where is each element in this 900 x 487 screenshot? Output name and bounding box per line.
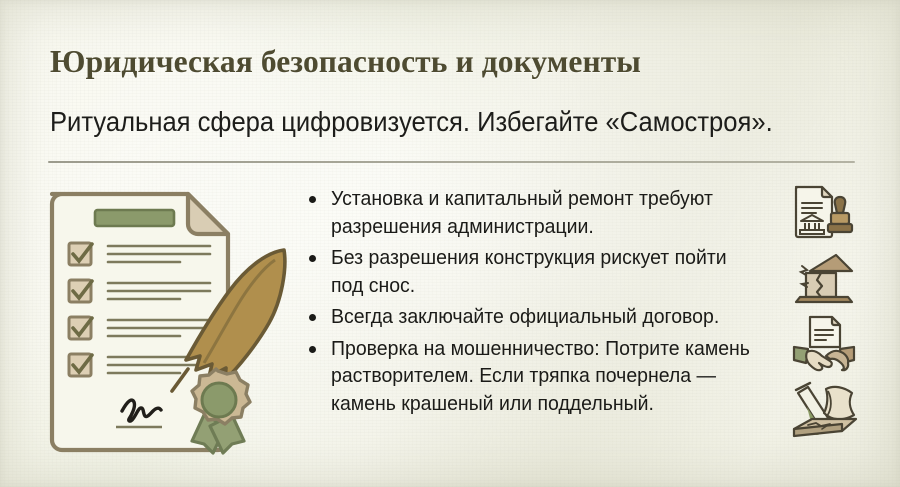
bullet-dot-icon xyxy=(309,314,316,321)
list-item-text: Без разрешения конструкция рискует пойти… xyxy=(331,245,761,300)
page-title: Юридическая безопасность и документы xyxy=(50,43,840,81)
side-icon-column xyxy=(788,183,860,447)
bullet-dot-icon xyxy=(309,255,316,262)
document-title-block xyxy=(95,210,174,226)
list-item: Проверка на мошенничество: Потрите камен… xyxy=(305,336,781,419)
bullet-dot-icon xyxy=(309,346,316,353)
bullet-dot-icon xyxy=(309,196,316,203)
list-item: Без разрешения конструкция рискует пойти… xyxy=(305,245,781,300)
list-item-text: Всегда заключайте официальный договор. xyxy=(331,304,761,332)
bullet-list: Установка и капитальный ремонт требуют р… xyxy=(305,186,781,422)
stone-slab-glyph xyxy=(794,419,856,436)
header-divider xyxy=(48,161,855,163)
contract-handshake-icon xyxy=(788,315,860,373)
solvent-test-tube-rag-stone-icon xyxy=(788,381,860,447)
list-item-text: Установка и капитальный ремонт требуют р… xyxy=(331,186,761,241)
list-item: Всегда заключайте официальный договор. xyxy=(305,304,781,332)
demolished-house-icon xyxy=(788,249,860,307)
document-checklist-illustration xyxy=(38,172,300,467)
list-item-text: Проверка на мошенничество: Потрите камен… xyxy=(331,336,761,419)
permit-document-with-government-stamp-icon xyxy=(788,183,860,241)
wax-seal-ribbon xyxy=(192,369,250,453)
page-subtitle: Ритуальная сфера цифровизуется. Избегайт… xyxy=(50,105,803,139)
list-item: Установка и капитальный ремонт требуют р… xyxy=(305,186,781,241)
slide-canvas: Юридическая безопасность и документы Рит… xyxy=(0,0,900,487)
